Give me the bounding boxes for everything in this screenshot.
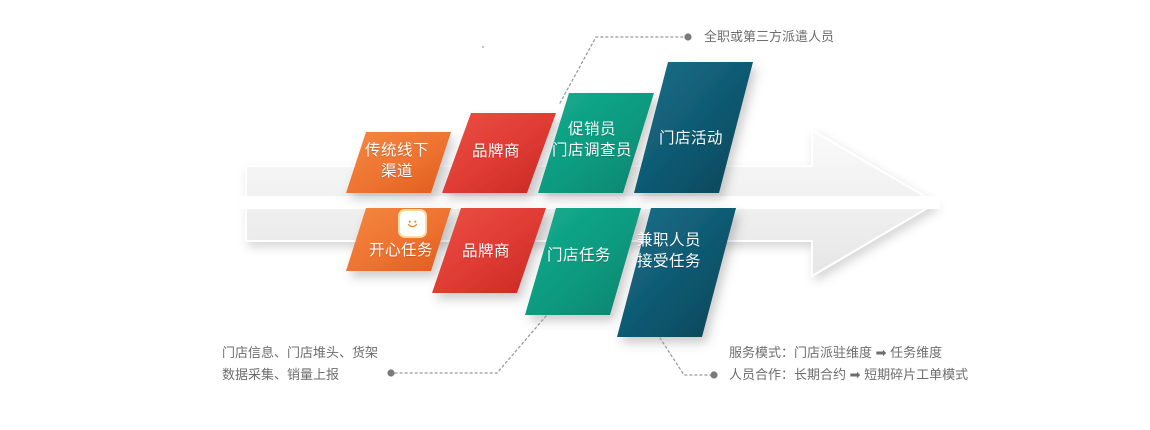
annotation-service-model-line1: 服务模式：门店派驻维度 ➡ 任务维度	[729, 342, 968, 364]
smiley-icon	[404, 215, 421, 232]
leader-dot-store-data	[387, 369, 394, 376]
leader-line-store-data	[394, 316, 546, 373]
stray-dot	[482, 46, 484, 48]
annotation-service-model-line2: 人员合作：长期合约 ➡ 短期碎片工单模式	[729, 364, 968, 386]
leader-line-staffing	[560, 37, 685, 103]
leader-dot-staffing	[684, 33, 691, 40]
annotation-service-model: 服务模式：门店派驻维度 ➡ 任务维度 人员合作：长期合约 ➡ 短期碎片工单模式	[729, 342, 968, 386]
annotation-store-data-line2: 数据采集、销量上报	[222, 364, 378, 386]
leader-lines-layer	[0, 0, 1150, 430]
annotation-staffing: 全职或第三方派遣人员	[704, 26, 834, 48]
smiley-icon-wrapper	[400, 211, 425, 236]
diagram-canvas: 传统线下 渠道 品牌商 促销员 门店调查员 门店活动 开心任务 品牌商 门店任务…	[0, 0, 1150, 430]
annotation-staffing-line1: 全职或第三方派遣人员	[704, 26, 834, 48]
annotation-store-data-line1: 门店信息、门店堆头、货架	[222, 342, 378, 364]
leader-line-service-model	[660, 338, 712, 375]
leader-dot-service-model	[710, 371, 717, 378]
annotation-store-data: 门店信息、门店堆头、货架 数据采集、销量上报	[222, 342, 378, 386]
